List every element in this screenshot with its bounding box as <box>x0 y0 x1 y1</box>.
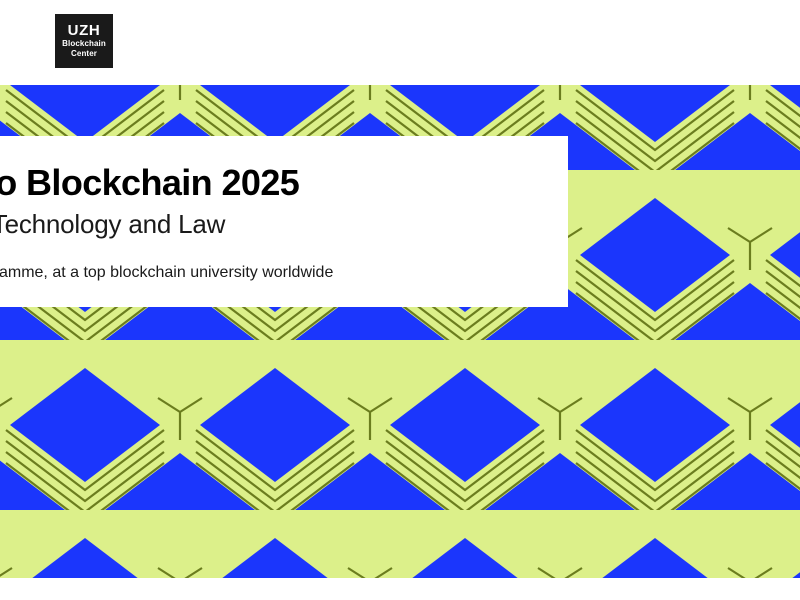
uzh-blockchain-center-logo[interactable]: UZH Blockchain Center <box>55 14 113 68</box>
poster-page: Dive into Blockchain 2025 conomics, Tech… <box>0 0 800 600</box>
universitaet-zuerich-logo[interactable]: sität RICH <box>0 20 44 60</box>
page-tagline: unparalleled programme, at a top blockch… <box>0 262 542 284</box>
uni-logo-sub-text: RICH <box>0 42 44 52</box>
uni-logo-main-text: sität <box>0 20 44 42</box>
uzh-acronym-text: UZH <box>68 23 101 39</box>
header-bar: sität RICH UZH Blockchain Center <box>0 0 800 85</box>
page-subtitle: conomics, Technology and Law <box>0 208 542 240</box>
page-title: Dive into Blockchain 2025 <box>0 162 542 204</box>
bottom-white-strip <box>0 578 800 600</box>
hero-headline-card: Dive into Blockchain 2025 conomics, Tech… <box>0 136 568 307</box>
blockchain-label: Blockchain <box>62 39 106 49</box>
center-label: Center <box>71 49 97 59</box>
